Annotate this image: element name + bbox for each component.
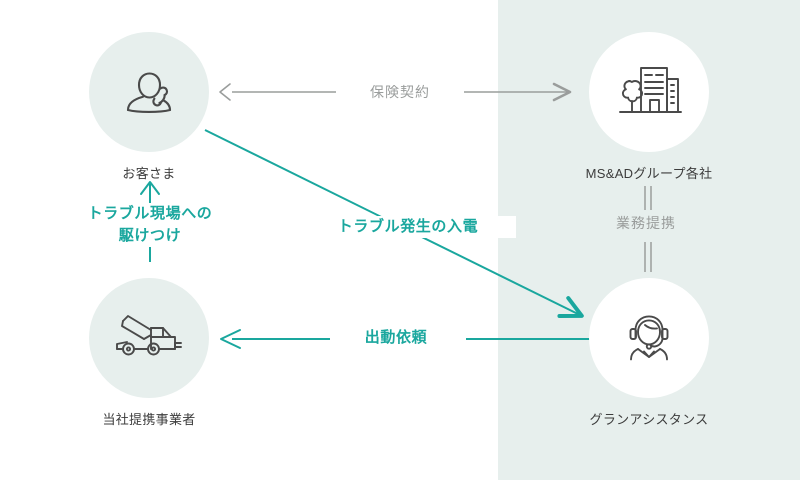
tow-truck-icon [111, 308, 187, 368]
node-customer-circle [89, 32, 209, 152]
headset-operator-icon [616, 305, 682, 371]
edge-label-incident: トラブル発生の入電 [300, 216, 516, 238]
edge-label-rush-line2: 駆けつけ [60, 225, 240, 247]
node-customer-label: お客さま [74, 163, 224, 182]
edge-label-insurance: 保険契約 [340, 82, 460, 102]
edge-label-alliance: 業務提携 [600, 213, 692, 233]
office-building-icon [613, 59, 685, 125]
diagram-canvas: お客さま [0, 0, 800, 480]
node-gran-circle [589, 278, 709, 398]
node-partner-label: 当社提携事業者 [74, 409, 224, 428]
node-msad[interactable]: MS&ADグループ各社 [574, 32, 724, 182]
node-partner[interactable]: 当社提携事業者 [74, 278, 224, 428]
edge-label-dispatch: 出動依頼 [335, 327, 457, 349]
node-partner-circle [89, 278, 209, 398]
person-with-phone-icon [116, 59, 182, 125]
edge-label-rush-line1: トラブル現場への [60, 203, 240, 225]
node-gran-label: グランアシスタンス [574, 409, 724, 428]
edge-label-rush: トラブル現場への 駆けつけ [60, 203, 240, 247]
node-customer[interactable]: お客さま [74, 32, 224, 182]
node-gran[interactable]: グランアシスタンス [574, 278, 724, 428]
node-msad-circle [589, 32, 709, 152]
node-msad-label: MS&ADグループ各社 [574, 163, 724, 182]
